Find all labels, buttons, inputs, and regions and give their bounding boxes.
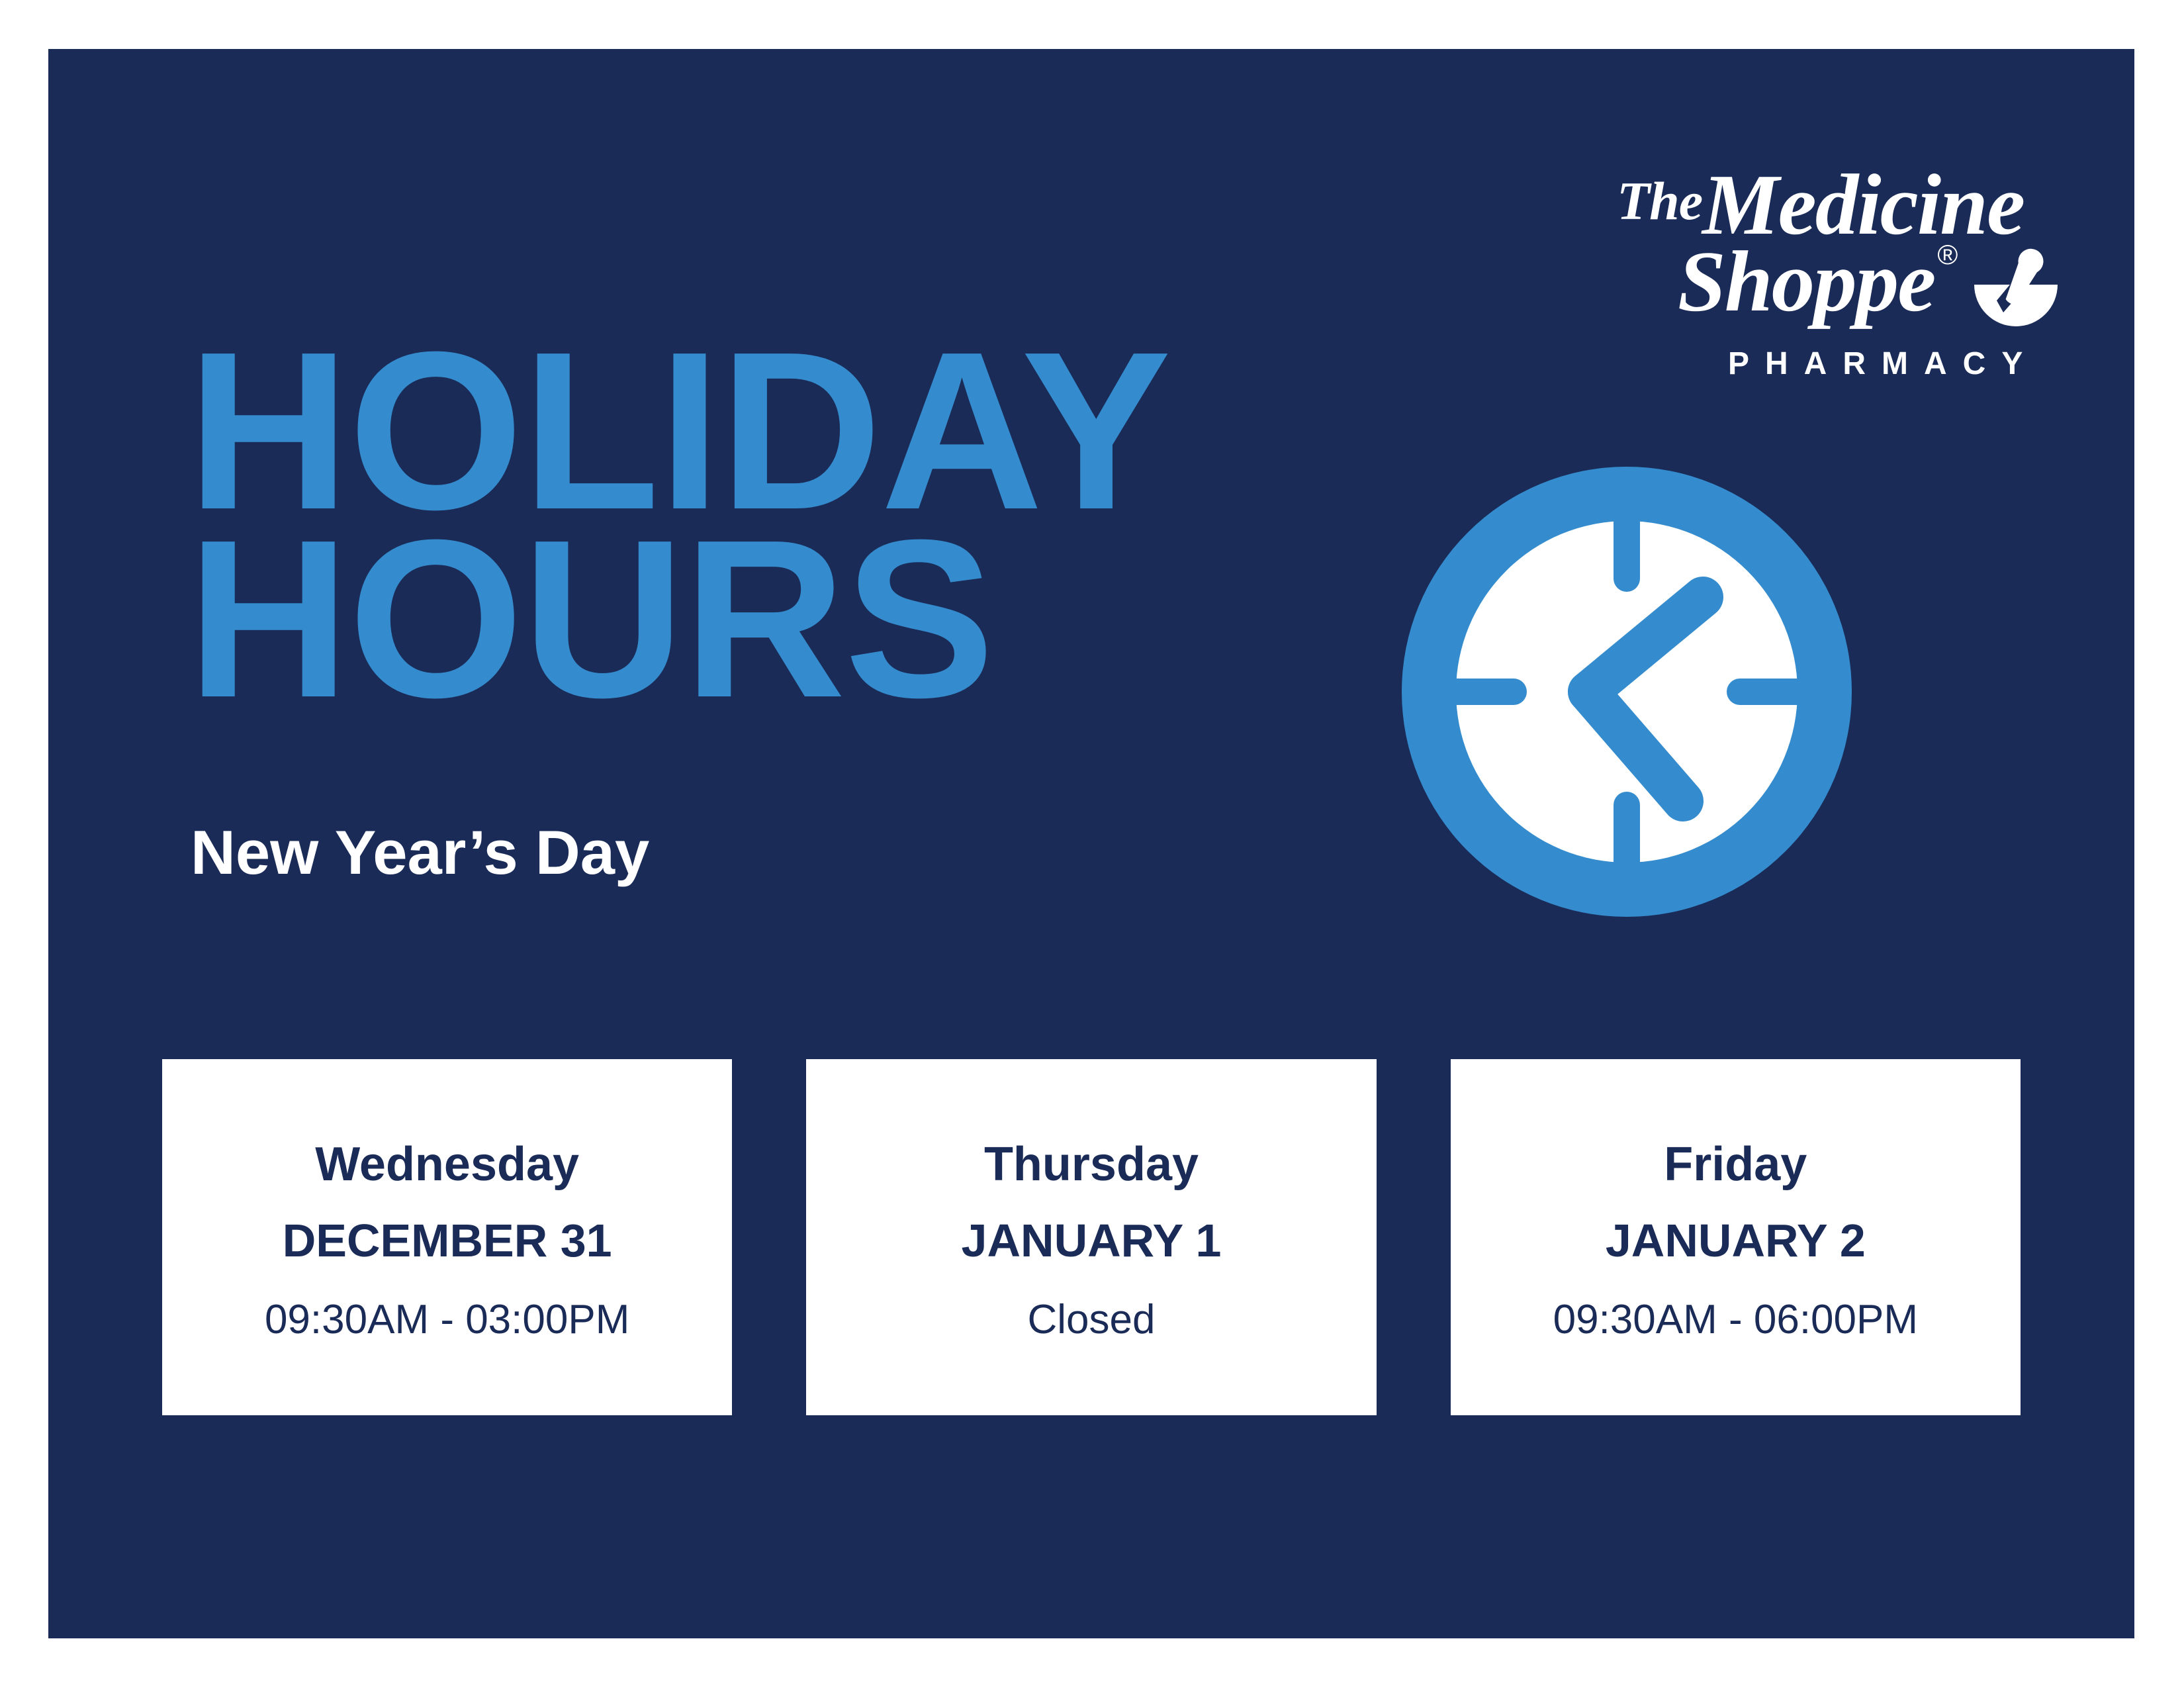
mortar-and-pestle-icon	[1973, 244, 2059, 330]
card-hours-label: 09:30AM - 06:00PM	[1553, 1299, 1918, 1340]
clock-icon	[1392, 457, 1862, 927]
medicine-shoppe-logo: TheMedicine Shoppe® PHARMACY	[1577, 162, 2093, 420]
card-date-label: JANUARY 2	[1606, 1217, 1866, 1264]
card-hours-label: 09:30AM - 03:00PM	[265, 1299, 629, 1340]
page-subtitle: New Year’s Day	[191, 817, 649, 888]
logo-line-shoppe: Shoppe®	[1678, 238, 1958, 338]
card-date-label: JANUARY 1	[962, 1217, 1222, 1264]
logo-word-shoppe: Shoppe	[1678, 238, 1934, 325]
schedule-card: Wednesday DECEMBER 31 09:30AM - 03:00PM	[162, 1059, 732, 1415]
card-date-label: DECEMBER 31	[283, 1217, 612, 1264]
page-title: HOLIDAY HOURS	[187, 334, 1170, 718]
holiday-hours-poster: TheMedicine Shoppe® PHARMACY HOLIDA	[48, 49, 2134, 1638]
logo-word-the: The	[1617, 171, 1702, 231]
card-day-label: Friday	[1664, 1141, 1807, 1188]
schedule-card: Friday JANUARY 2 09:30AM - 06:00PM	[1451, 1059, 2021, 1415]
poster-outer-frame: TheMedicine Shoppe® PHARMACY HOLIDA	[0, 0, 2184, 1688]
card-day-label: Thursday	[984, 1141, 1199, 1188]
card-day-label: Wednesday	[315, 1141, 579, 1188]
schedule-card: Thursday JANUARY 1 Closed	[806, 1059, 1376, 1415]
schedule-card-list: Wednesday DECEMBER 31 09:30AM - 03:00PM …	[162, 1059, 2021, 1415]
registered-trademark-icon: ®	[1937, 241, 1958, 269]
logo-tagline-pharmacy: PHARMACY	[1728, 346, 2038, 382]
card-hours-label: Closed	[1027, 1299, 1155, 1340]
